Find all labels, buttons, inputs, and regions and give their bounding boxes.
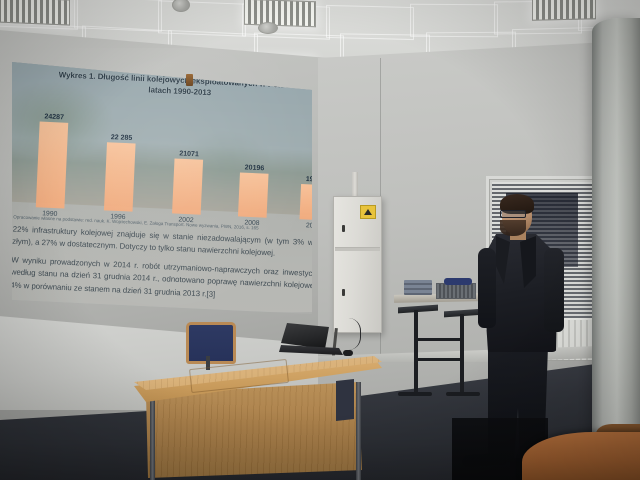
bar-value-label: 21071: [179, 150, 199, 159]
projection-screen: Wykres 1. Długość linii kolejowych ekspl…: [12, 52, 312, 312]
laptop-power-cable: [330, 318, 361, 350]
presenter-arm-right: [544, 248, 564, 332]
round-column: [592, 18, 640, 458]
desk-leg: [150, 396, 155, 480]
bar-value-label: 22 285: [111, 134, 133, 143]
desk-side-panel: [336, 379, 354, 421]
desk-leg: [356, 382, 361, 480]
electrical-cabinet: [333, 196, 382, 333]
cabinet-divider: [335, 247, 380, 251]
projector-screen-mount: [186, 74, 193, 86]
office-chair-back[interactable]: [186, 322, 236, 364]
slide-paragraph-2: W wyniku prowadzonych w 2014 r. robót ut…: [12, 255, 312, 308]
presenter-arm-left: [478, 248, 496, 328]
projected-slide: Wykres 1. Długość linii kolejowych ekspl…: [12, 52, 312, 312]
bar-value-label: 19328: [306, 175, 312, 184]
slide-body-text: 22% infrastruktury kolejowej znajduje si…: [12, 224, 312, 312]
bar-rect: [36, 122, 68, 209]
laptop-mouse[interactable]: [343, 350, 353, 356]
bar-value-label: 20196: [245, 164, 265, 173]
bar-group: 22 285 1996: [104, 142, 136, 211]
equipment-stand-crossbar: [414, 358, 464, 361]
presenter-beard: [500, 220, 526, 236]
bar-group: 19328 2013: [300, 184, 312, 220]
cable-conduit: [352, 172, 358, 198]
bar-group: 21071 2002: [172, 158, 203, 214]
cabinet-lock-icon[interactable]: [342, 289, 345, 296]
bar-chart: 24287 1990 22 285 1996 21071 2002 20196: [20, 101, 312, 221]
bar-rect: [172, 158, 203, 214]
stacked-books: [404, 280, 432, 295]
lecture-room-photo: Wykres 1. Długość linii kolejowych ekspl…: [0, 0, 640, 480]
equipment-stand-post: [414, 310, 418, 392]
bar-rect: [300, 184, 312, 220]
eyeglasses-icon: [500, 210, 526, 218]
bar-group: 24287 1990: [36, 122, 68, 209]
cabinet-lock-icon[interactable]: [342, 225, 345, 232]
bar-value-label: 24287: [44, 113, 64, 122]
bar-rect: [104, 142, 136, 211]
equipment-stand-foot: [398, 392, 432, 396]
high-voltage-warning-icon: [360, 205, 376, 219]
bar-rect: [238, 172, 269, 217]
bar-group: 20196 2008: [238, 172, 269, 217]
equipment-stand-crossbar: [414, 338, 464, 341]
